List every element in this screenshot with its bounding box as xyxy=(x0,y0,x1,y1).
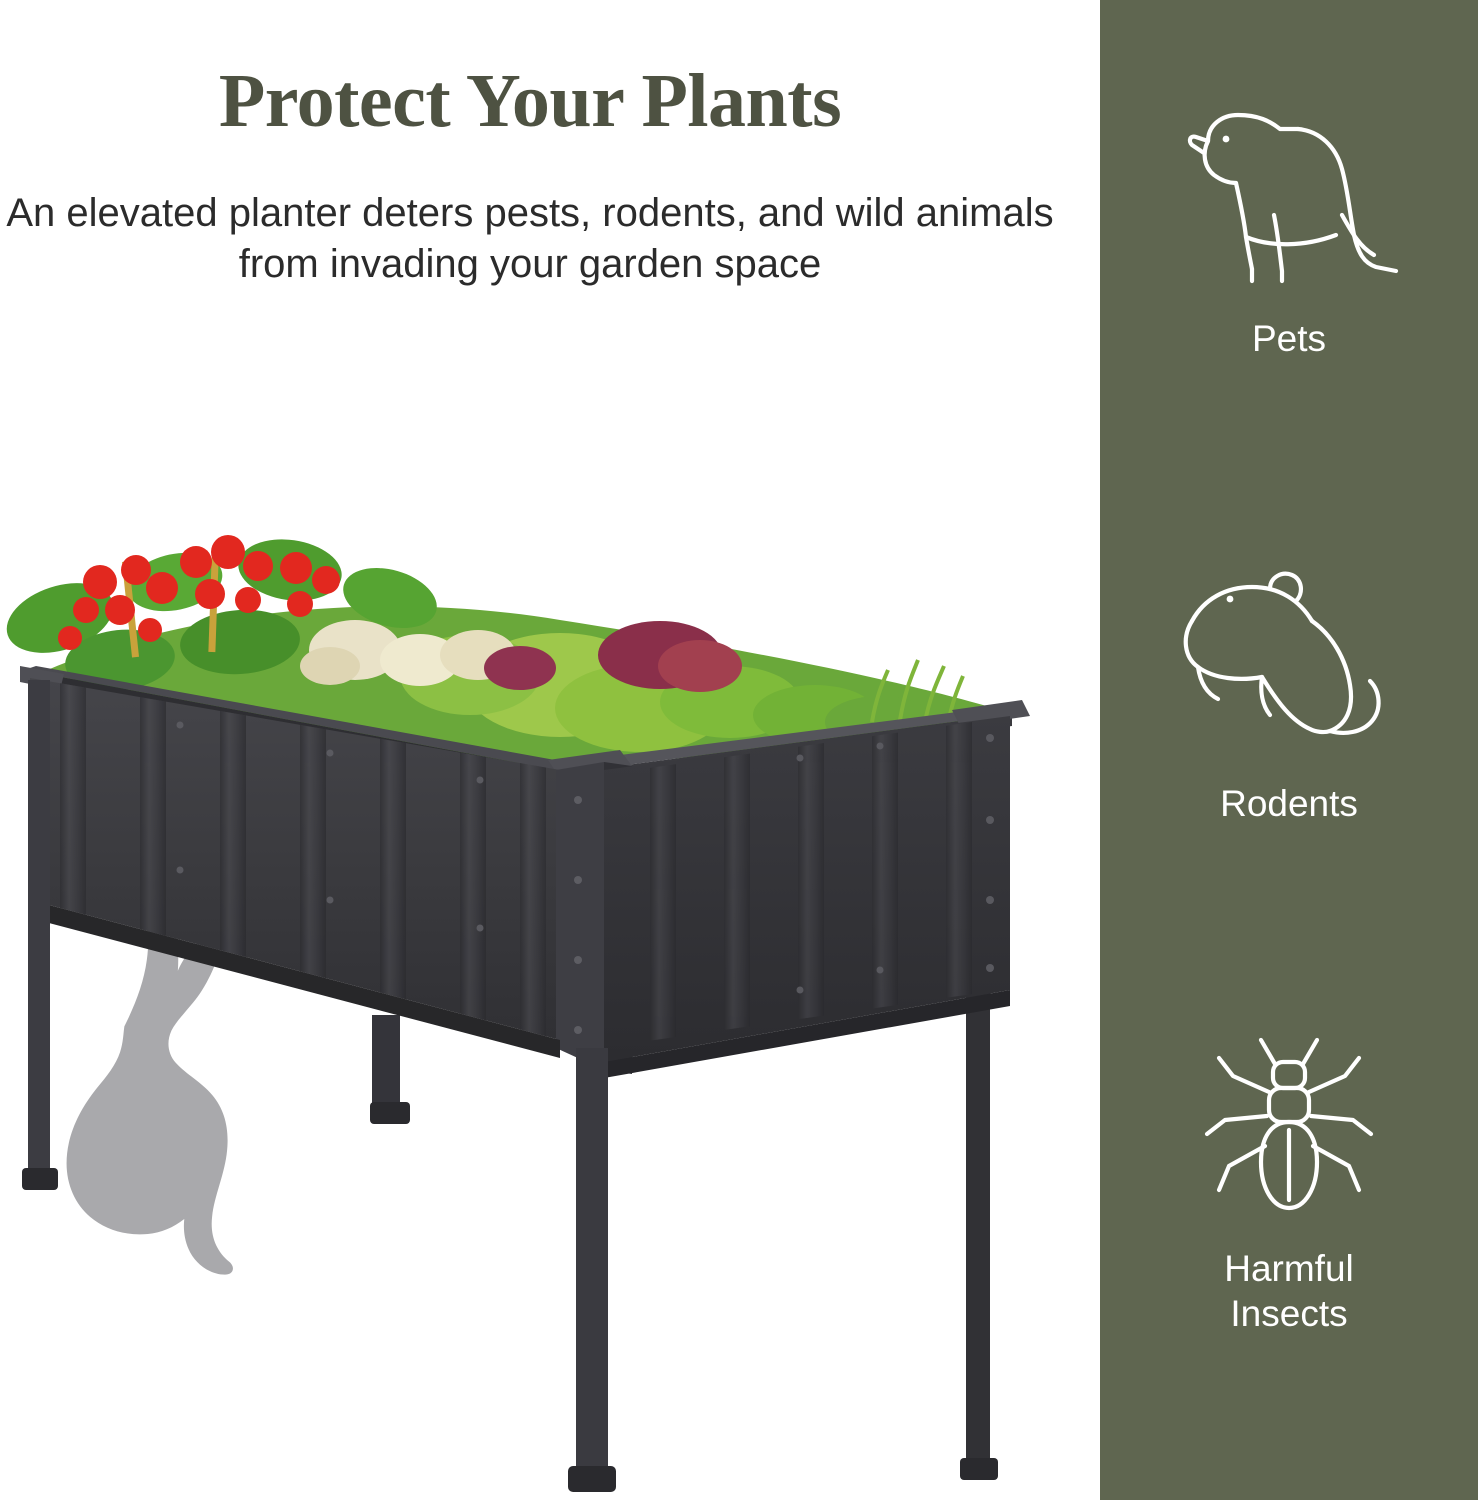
promo-image: Protect Your Plants An elevated planter … xyxy=(0,0,1478,1500)
feature-label-rodents: Rodents xyxy=(1100,781,1478,826)
subheadline-text: An elevated planter deters pests, rodent… xyxy=(0,188,1060,290)
mouse-icon xyxy=(1100,565,1478,765)
feature-label-insects: Harmful Insects xyxy=(1100,1246,1478,1336)
feature-rodents: Rodents xyxy=(1100,565,1478,826)
feature-insects: Harmful Insects xyxy=(1100,1030,1478,1336)
feature-sidebar: Pets Rodents xyxy=(1100,0,1478,1500)
feature-label-pets: Pets xyxy=(1100,316,1478,361)
left-content-panel: Protect Your Plants An elevated planter … xyxy=(0,0,1100,1500)
page-title: Protect Your Plants xyxy=(0,62,1060,142)
product-illustration xyxy=(0,470,1100,1500)
insect-icon xyxy=(1100,1030,1478,1230)
dog-icon xyxy=(1100,95,1478,300)
feature-pets: Pets xyxy=(1100,95,1478,361)
